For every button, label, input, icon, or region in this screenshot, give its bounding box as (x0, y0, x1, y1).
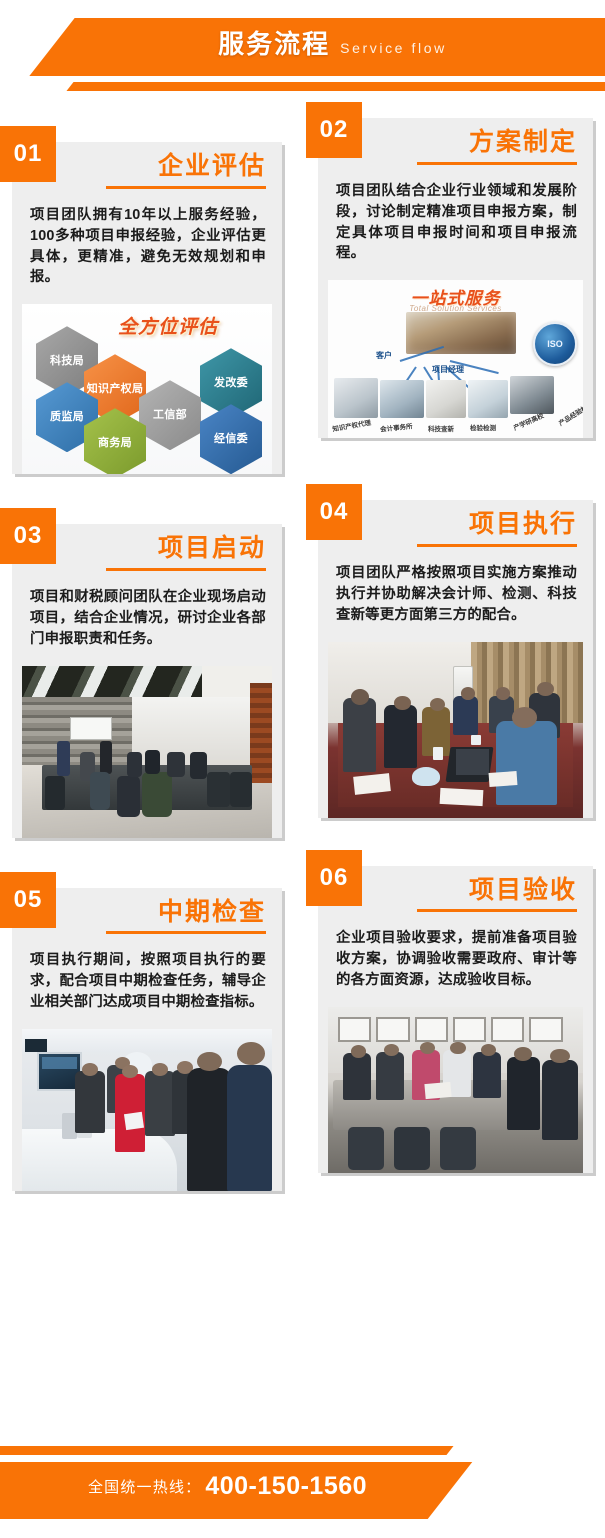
attendee-head-4 (450, 1042, 465, 1054)
attendee-6 (507, 1057, 540, 1130)
card-description-04: 项目团队严格按照项目实施方案推动执行并协助解决会计师、检测、科技查新等更方面第三… (318, 547, 593, 642)
head-right-1 (537, 682, 554, 696)
header-title-group: 服务流程 Service flow (0, 24, 605, 61)
card-description-03: 项目和财税顾问团队在企业现场启动项目，结合企业情况，研讨企业各部门申报职责和任务… (12, 571, 282, 666)
wall-frame-4 (453, 1017, 486, 1042)
hotline-number[interactable]: 400-150-1560 (205, 1472, 367, 1501)
header-band-accent (66, 82, 605, 91)
hexagon-diagram: 全方位评估 科技局 知识产权局 发改委 质监局 工信部 经信委 商务局 (22, 304, 272, 474)
one-stop-bottom-label-5: 产品经验检测 (556, 399, 583, 428)
visitor-head-red (122, 1065, 138, 1078)
visitor-foreground-2 (227, 1065, 272, 1191)
card-figure-02: 一站式服务 Total Solution Services 客户 项目经理 (328, 280, 583, 438)
attendee-head-6 (514, 1047, 532, 1061)
card-cell-01: 01 企业评估 项目团队拥有10年以上服务经验，100多种项目申报经验，企业评估… (0, 100, 300, 484)
card-description-01: 项目团队拥有10年以上服务经验，100多种项目申报经验，企业评估更具体，更精准，… (12, 189, 282, 305)
attendee-head-1 (351, 1045, 366, 1057)
hotline-label: 全国统一热线： (88, 1476, 201, 1497)
process-card-06[interactable]: 06 项目验收 企业项目验收要求，提前准备项目验收方案，协调验收需要政府、审计等… (318, 866, 593, 1173)
attendee-5 (473, 1052, 501, 1098)
person-seated-7 (190, 752, 208, 780)
head-mid-2 (461, 687, 475, 699)
bottom-photo-1 (334, 378, 378, 418)
paper-2 (440, 788, 484, 806)
wall-frame-5 (491, 1017, 524, 1042)
bottom-photo-5 (510, 376, 554, 414)
wood-panel (250, 683, 273, 783)
card-figure-05 (22, 1029, 272, 1191)
chair-2 (207, 772, 230, 806)
process-card-02[interactable]: 02 方案制定 项目团队结合企业行业领域和发展阶段，讨论制定精准项目申报方案，制… (318, 118, 593, 438)
one-stop-label-client: 客户 (376, 350, 392, 361)
person-seated-4 (127, 752, 142, 778)
photo-conference (328, 1007, 583, 1173)
bottom-photo-2 (380, 380, 424, 418)
card-figure-03 (22, 666, 272, 838)
photo-showroom (22, 1029, 272, 1191)
chair-3 (230, 772, 253, 806)
one-stop-bottom-label-1: 会计事务所 (380, 421, 413, 434)
visitor-foreground-1 (187, 1068, 232, 1191)
step-number-badge-03: 03 (0, 508, 56, 564)
person-seated-5 (145, 750, 160, 774)
chair-06-3 (440, 1127, 476, 1170)
display-screen-small (25, 1039, 48, 1052)
head-left-1 (351, 689, 369, 705)
step-number-badge-01: 01 (0, 126, 56, 182)
screen-content-1 (42, 1057, 77, 1070)
one-stop-bottom-label-0: 知识产权代理 (331, 417, 371, 434)
card-cell-03: 03 项目启动 项目和财税顾问团队在企业现场启动项目，结合企业情况，研讨企业各部… (0, 484, 300, 847)
person-foreground-right (496, 721, 557, 805)
one-stop-service-diagram: 一站式服务 Total Solution Services 客户 项目经理 (328, 280, 583, 438)
person-seated-3 (117, 776, 140, 817)
one-stop-center-photo (406, 312, 516, 354)
card-cell-06: 06 项目验收 企业项目验收要求，提前准备项目验收方案，协调验收需要政府、审计等… (300, 848, 605, 1201)
laptop-screen-1 (456, 749, 489, 775)
document-06 (424, 1082, 451, 1099)
process-card-04[interactable]: 04 项目执行 项目团队严格按照项目实施方案推动执行并协助解决会计师、检测、科技… (318, 500, 593, 817)
card-cell-02: 02 方案制定 项目团队结合企业行业领域和发展阶段，讨论制定精准项目申报方案，制… (300, 100, 605, 484)
card-figure-01: 全方位评估 科技局 知识产权局 发改委 质监局 工信部 经信委 商务局 (22, 304, 272, 474)
attendee-2 (376, 1052, 404, 1100)
step-number-badge-05: 05 (0, 872, 56, 928)
one-stop-label-manager: 项目经理 (432, 364, 464, 375)
visitor-1 (75, 1071, 105, 1133)
page-title: 服务流程 (218, 24, 330, 61)
bottom-photo-4 (468, 380, 508, 418)
card-description-05: 项目执行期间，按照项目执行的要求，配合项目中期检查任务，辅导企业相关部门达成项目… (12, 934, 282, 1029)
attendee-head-5 (481, 1044, 496, 1056)
chair-1 (45, 776, 65, 810)
footer-hotline-group: 全国统一热线： 400-150-1560 (0, 1472, 605, 1501)
hex-node-5: 经信委 (200, 404, 262, 474)
card-figure-04 (328, 642, 583, 818)
card-figure-06 (328, 1007, 583, 1173)
wall-frame-1 (338, 1017, 371, 1042)
step-number-badge-02: 02 (306, 102, 362, 158)
person-seated-2 (90, 772, 110, 810)
head-foreground-right (512, 707, 538, 728)
visitor-foreground-head-2 (237, 1042, 265, 1065)
attendee-1 (343, 1053, 371, 1099)
photo-meeting-room (22, 666, 272, 838)
person-standing-1 (57, 741, 70, 775)
wall-frame-2 (376, 1017, 409, 1042)
card-description-06: 企业项目验收要求，提前准备项目验收方案，协调验收需要政府、审计等的各方面资源，达… (318, 912, 593, 1007)
card-cell-04: 04 项目执行 项目团队严格按照项目实施方案推动执行并协助解决会计师、检测、科技… (300, 484, 605, 847)
card-description-02: 项目团队结合企业行业领域和发展阶段，讨论制定精准项目申报方案，制定具体项目申报时… (318, 165, 593, 281)
hexagon-diagram-title: 全方位评估 (118, 312, 218, 339)
hex-node-4: 工信部 (139, 380, 201, 450)
cup-2 (471, 735, 481, 746)
chair-06-2 (394, 1127, 430, 1170)
visitor-foreground-head-1 (197, 1052, 222, 1071)
person-green-jacket (142, 772, 172, 817)
process-card-05[interactable]: 05 中期检查 项目执行期间，按照项目执行的要求，配合项目中期检查任务，辅导企业… (12, 888, 282, 1191)
photo-worktable (328, 642, 583, 818)
bag-item (412, 767, 440, 786)
step-number-badge-04: 04 (306, 484, 362, 540)
page-header: 服务流程 Service flow (0, 0, 605, 110)
step-number-badge-06: 06 (306, 850, 362, 906)
footer-band-accent (0, 1446, 454, 1455)
cup-1 (433, 747, 443, 759)
person-left-1 (343, 698, 376, 772)
one-stop-bottom-label-2: 科技查新 (428, 423, 454, 433)
person-seated-6 (167, 752, 185, 778)
page-footer: 全国统一热线： 400-150-1560 (0, 1410, 605, 1538)
card-cell-05: 05 中期检查 项目执行期间，按照项目执行的要求，配合项目中期检查任务，辅导企业… (0, 848, 300, 1201)
process-card-grid: 01 企业评估 项目团队拥有10年以上服务经验，100多种项目申报经验，企业评估… (0, 100, 605, 1201)
bottom-photo-3 (426, 380, 466, 418)
brochure (123, 1112, 143, 1130)
iso-seal-icon: ISO (533, 322, 577, 366)
ceiling-pattern (22, 666, 202, 697)
wall-frame-6 (529, 1017, 562, 1042)
attendee-7 (542, 1060, 578, 1140)
process-card-03[interactable]: 03 项目启动 项目和财税顾问团队在企业现场启动项目，结合企业情况，研讨企业各部… (12, 524, 282, 837)
visitor-3 (145, 1071, 175, 1136)
wall-frame-3 (415, 1017, 448, 1042)
chair-06-1 (348, 1127, 384, 1170)
person-standing-2 (100, 741, 113, 774)
person-left-2 (384, 705, 417, 768)
whiteboard (70, 717, 113, 739)
page-subtitle: Service flow (340, 40, 447, 56)
process-card-01[interactable]: 01 企业评估 项目团队拥有10年以上服务经验，100多种项目申报经验，企业评估… (12, 142, 282, 474)
one-stop-bottom-label-3: 检验检测 (470, 422, 496, 432)
reception-counter (22, 1129, 177, 1191)
showroom-ceiling (22, 1029, 272, 1052)
person-mid-2 (453, 696, 479, 735)
paper-3 (488, 771, 517, 787)
head-back-1 (496, 687, 510, 699)
